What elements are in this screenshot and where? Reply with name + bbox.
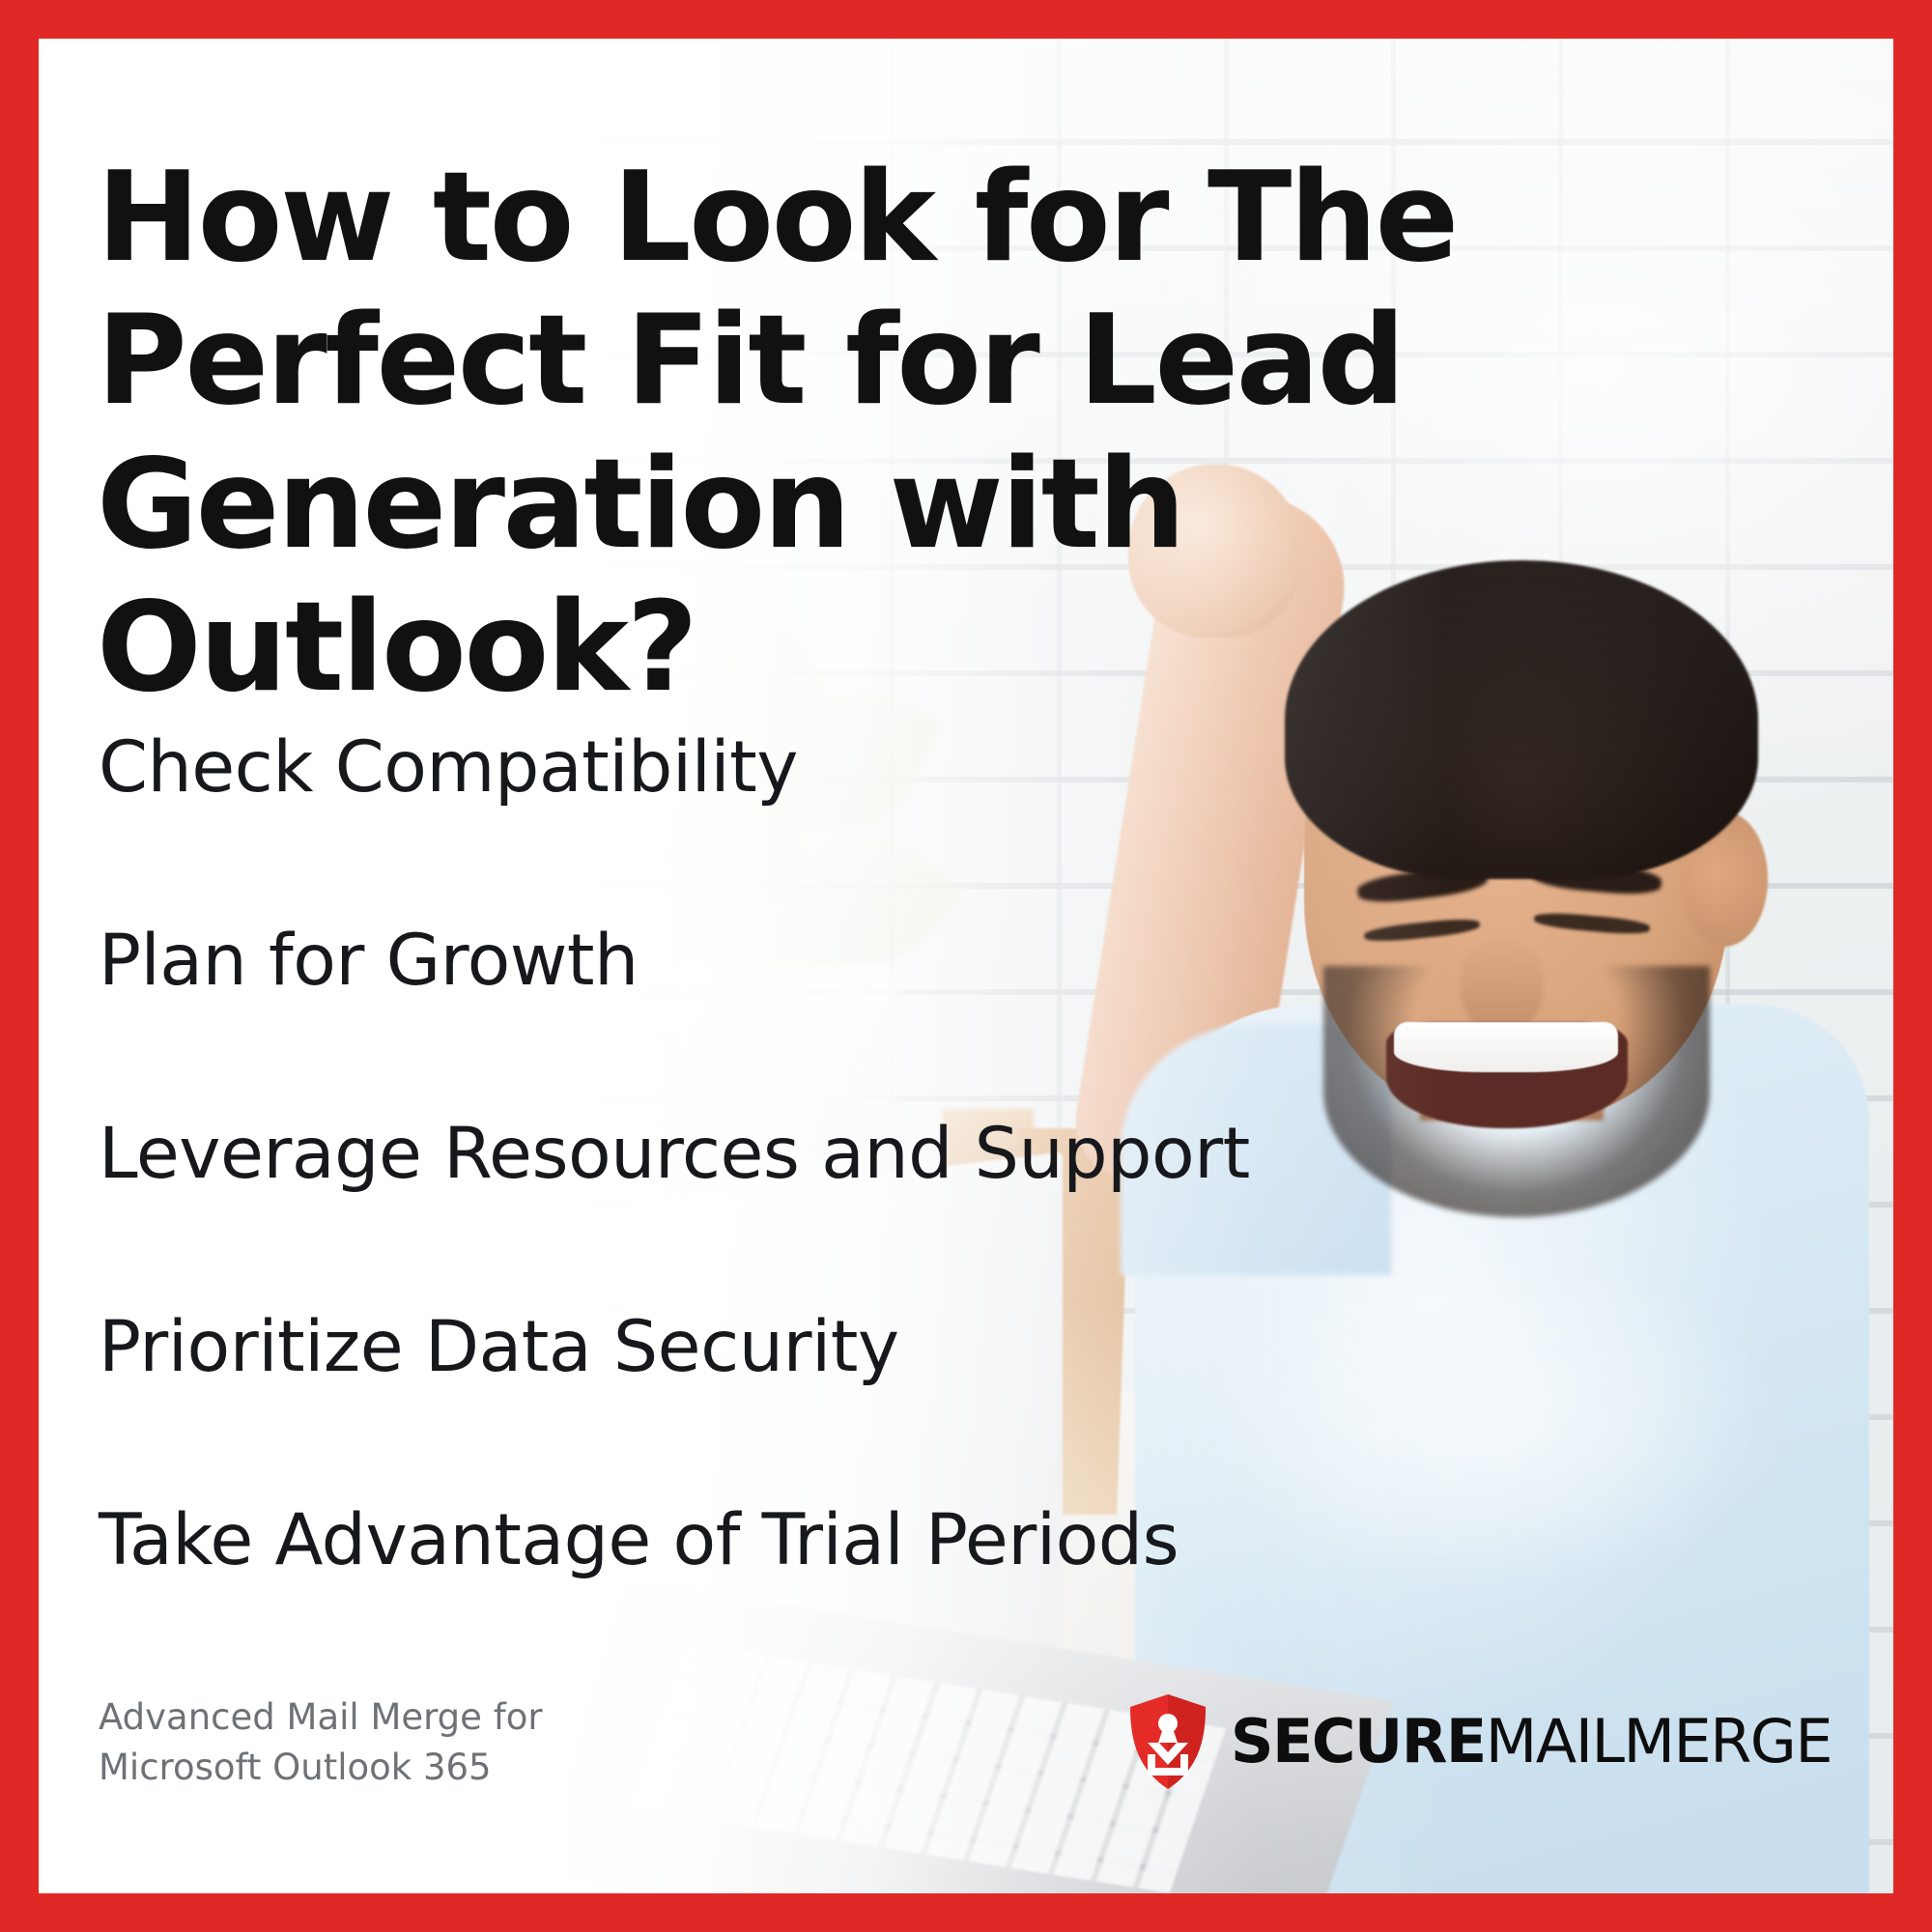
product-tagline: Advanced Mail Merge for Microsoft Outloo… — [99, 1692, 543, 1793]
brand-wordmark: SECUREMAILMERGE — [1231, 1712, 1832, 1772]
wordmark-mailmerge: MAILMERGE — [1486, 1706, 1832, 1776]
list-item: Take Advantage of Trial Periods — [99, 1505, 1605, 1698]
brand-logo: SECUREMAILMERGE — [1126, 1692, 1832, 1791]
list-item: Plan for Growth — [99, 925, 1605, 1119]
list-item: Prioritize Data Security — [99, 1312, 1605, 1505]
checklist: Check Compatibility Plan for Growth Leve… — [99, 732, 1605, 1698]
tagline-line-1: Advanced Mail Merge for — [99, 1692, 543, 1743]
wordmark-secure: SECURE — [1231, 1706, 1486, 1776]
page-title: How to Look for The Perfect Fit for Lead… — [97, 147, 1536, 721]
shield-inbox-lock-icon — [1126, 1692, 1209, 1791]
tagline-line-2: Microsoft Outlook 365 — [99, 1743, 543, 1793]
poster-content: How to Look for The Perfect Fit for Lead… — [39, 39, 1893, 1893]
poster-canvas: How to Look for The Perfect Fit for Lead… — [39, 39, 1893, 1893]
list-item: Check Compatibility — [99, 732, 1605, 925]
poster-frame: How to Look for The Perfect Fit for Lead… — [0, 0, 1932, 1932]
list-item: Leverage Resources and Support — [99, 1119, 1605, 1312]
